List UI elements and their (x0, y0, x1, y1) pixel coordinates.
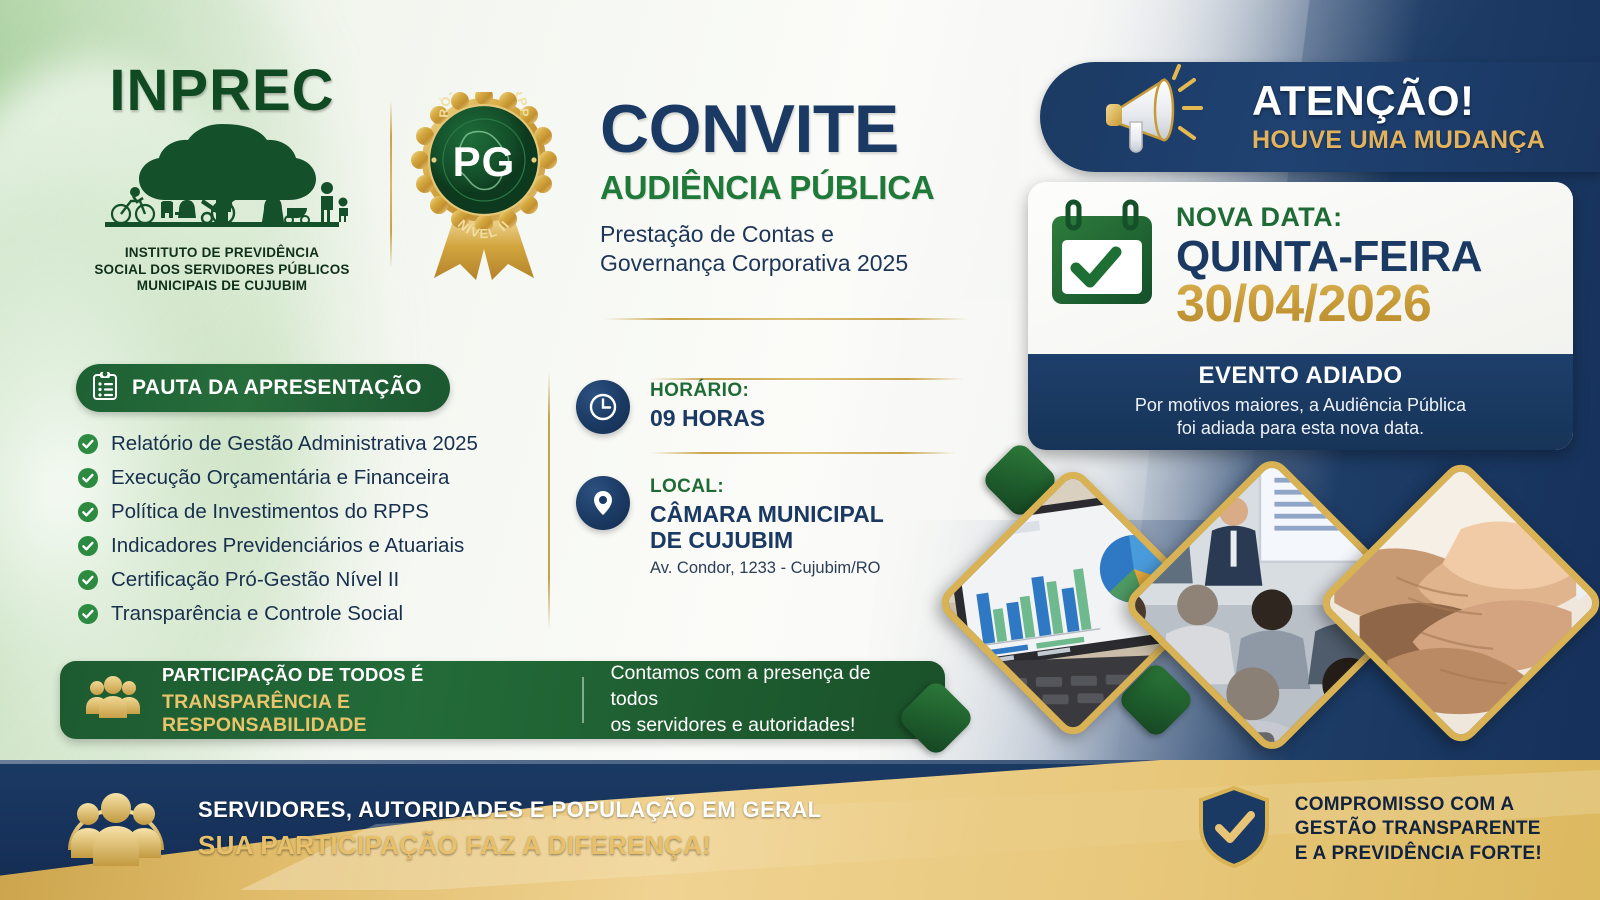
agenda-item: Certificação Pró-Gestão Nível II (78, 564, 548, 595)
event-place-value-line-1: CÂMARA MUNICIPAL (650, 501, 884, 527)
agenda-item: Indicadores Previdenciários e Atuariais (78, 530, 548, 561)
check-circle-icon (78, 536, 98, 556)
attention-subtitle: HOUVE UMA MUDANÇA (1252, 126, 1545, 155)
clipboard-list-icon (92, 371, 118, 406)
participation-left-texts: PARTICIPAÇÃO DE TODOS É TRANSPARÊNCIA E … (162, 664, 556, 737)
megaphone-icon (1098, 62, 1228, 172)
clock-icon (576, 380, 630, 434)
brand-acronym: INPREC (72, 62, 372, 120)
poster-canvas: INPREC (0, 0, 1600, 900)
people-group-icon (60, 776, 172, 881)
agenda-item: Relatório de Gestão Administrativa 2025 (78, 428, 548, 459)
event-time-label: HORÁRIO: (650, 380, 765, 402)
tree-with-people-icon (72, 116, 372, 241)
participation-banner: PARTICIPAÇÃO DE TODOS É TRANSPARÊNCIA E … (60, 661, 945, 739)
logo-divider (390, 100, 392, 268)
event-place-address: Av. Condor, 1233 - Cujubim/RO (650, 559, 884, 578)
event-time-texts: HORÁRIO: 09 HORAS (650, 380, 765, 431)
brand-subtitle: INSTITUTO DE PREVIDÊNCIA SOCIAL DOS SERV… (72, 245, 372, 295)
footer-left: SERVIDORES, AUTORIDADES E POPULAÇÃO EM G… (60, 776, 822, 881)
check-circle-icon (78, 604, 98, 624)
new-date-label: NOVA DATA: (1176, 202, 1482, 233)
agenda-header-pill: PAUTA DA APRESENTAÇÃO (76, 364, 450, 412)
event-place-label: LOCAL: (650, 476, 884, 498)
agenda-item-label: Indicadores Previdenciários e Atuariais (111, 534, 464, 558)
new-date-card: NOVA DATA: QUINTA-FEIRA 30/04/2026 EVENT… (1028, 182, 1573, 450)
footer-line-2: SUA PARTICIPAÇÃO FAZ A DIFERENÇA! (198, 830, 822, 861)
brand-subtitle-line-2: SOCIAL DOS SERVIDORES PÚBLICOS (72, 262, 372, 279)
new-date-texts: NOVA DATA: QUINTA-FEIRA 30/04/2026 (1176, 198, 1482, 331)
agenda-header-label: PAUTA DA APRESENTAÇÃO (132, 376, 422, 400)
check-circle-icon (78, 468, 98, 488)
check-circle-icon (78, 434, 98, 454)
footer-right: COMPROMISSO COM A GESTÃO TRANSPARENTE E … (1195, 784, 1542, 875)
participation-right-line-1: Contamos com a presença de todos (610, 661, 921, 712)
check-circle-icon (78, 502, 98, 522)
event-place-row: LOCAL: CÂMARA MUNICIPAL DE CUJUBIM Av. C… (576, 476, 976, 578)
event-time-value: 09 HORAS (650, 405, 765, 431)
agenda-item: Execução Orçamentária e Financeira (78, 462, 548, 493)
page-description-line-2: Governança Corporativa 2025 (600, 249, 1000, 278)
certification-seal-icon: PG PRÓ-GESTÃO RPPS NÍVEL II (404, 92, 564, 282)
agenda-item-label: Certificação Pró-Gestão Nível II (111, 568, 399, 592)
info-gold-rule-middle (650, 452, 956, 454)
agenda-item: Política de Investimentos do RPPS (78, 496, 548, 527)
participation-line-2: TRANSPARÊNCIA E RESPONSABILIDADE (162, 691, 556, 737)
people-group-icon (84, 675, 142, 726)
brand-subtitle-line-1: INSTITUTO DE PREVIDÊNCIA (72, 245, 372, 262)
footer-right-line-3: E A PREVIDÊNCIA FORTE! (1295, 842, 1542, 866)
page-title: CONVITE (600, 96, 1000, 163)
page-description: Prestação de Contas e Governança Corpora… (600, 220, 1000, 278)
new-date-card-bottom: EVENTO ADIADO Por motivos maiores, a Aud… (1028, 354, 1573, 450)
footer-left-texts: SERVIDORES, AUTORIDADES E POPULAÇÃO EM G… (198, 797, 822, 861)
event-place-texts: LOCAL: CÂMARA MUNICIPAL DE CUJUBIM Av. C… (650, 476, 884, 578)
participation-left: PARTICIPAÇÃO DE TODOS É TRANSPARÊNCIA E … (84, 664, 556, 737)
event-status-badge: EVENTO ADIADO (1028, 362, 1573, 390)
event-status-note-line-2: foi adiada para esta nova data. (1028, 417, 1573, 440)
map-pin-icon (576, 476, 630, 530)
footer-bar: SERVIDORES, AUTORIDADES E POPULAÇÃO EM G… (0, 760, 1600, 900)
new-date-card-top: NOVA DATA: QUINTA-FEIRA 30/04/2026 (1028, 182, 1573, 354)
footer-right-texts: COMPROMISSO COM A GESTÃO TRANSPARENTE E … (1295, 793, 1542, 866)
shield-check-icon (1195, 784, 1273, 875)
info-divider (548, 372, 550, 630)
event-time-row: HORÁRIO: 09 HORAS (576, 380, 976, 434)
page-description-line-1: Prestação de Contas e (600, 220, 1000, 249)
event-place-value-line-2: DE CUJUBIM (650, 527, 884, 553)
participation-right-line-2: os servidores e autoridades! (610, 713, 921, 739)
attention-title: ATENÇÃO! (1252, 80, 1545, 122)
title-gold-rule (604, 318, 968, 320)
event-info-block: HORÁRIO: 09 HORAS LOCAL: CÂMARA MUNICIPA… (576, 380, 976, 578)
agenda-list: Relatório de Gestão Administrativa 2025 … (78, 428, 548, 632)
event-status-note-line-1: Por motivos maiores, a Audiência Pública (1028, 394, 1573, 417)
footer-line-1: SERVIDORES, AUTORIDADES E POPULAÇÃO EM G… (198, 797, 822, 823)
brand-logo: INPREC (72, 62, 372, 295)
footer-right-line-2: GESTÃO TRANSPARENTE (1295, 817, 1542, 841)
check-circle-icon (78, 570, 98, 590)
agenda-item-label: Relatório de Gestão Administrativa 2025 (111, 432, 478, 456)
invitation-title-block: CONVITE AUDIÊNCIA PÚBLICA Prestação de C… (600, 96, 1000, 278)
calendar-check-icon (1046, 198, 1158, 319)
agenda-item-label: Execução Orçamentária e Financeira (111, 466, 449, 490)
attention-texts: ATENÇÃO! HOUVE UMA MUDANÇA (1252, 80, 1545, 155)
page-subtitle: AUDIÊNCIA PÚBLICA (600, 169, 1000, 207)
brand-subtitle-line-3: MUNICIPAIS DE CUJUBIM (72, 278, 372, 295)
participation-right: Contamos com a presença de todos os serv… (610, 661, 921, 738)
svg-text:PG: PG (453, 138, 516, 185)
footer-right-line-1: COMPROMISSO COM A (1295, 793, 1542, 817)
agenda-item-label: Política de Investimentos do RPPS (111, 500, 429, 524)
agenda-item: Transparência e Controle Social (78, 598, 548, 629)
participation-line-1: PARTICIPAÇÃO DE TODOS É (162, 664, 556, 686)
new-date-weekday: QUINTA-FEIRA (1176, 235, 1482, 280)
new-date-value: 30/04/2026 (1176, 278, 1482, 331)
agenda-item-label: Transparência e Controle Social (111, 602, 403, 626)
participation-separator (582, 677, 584, 723)
